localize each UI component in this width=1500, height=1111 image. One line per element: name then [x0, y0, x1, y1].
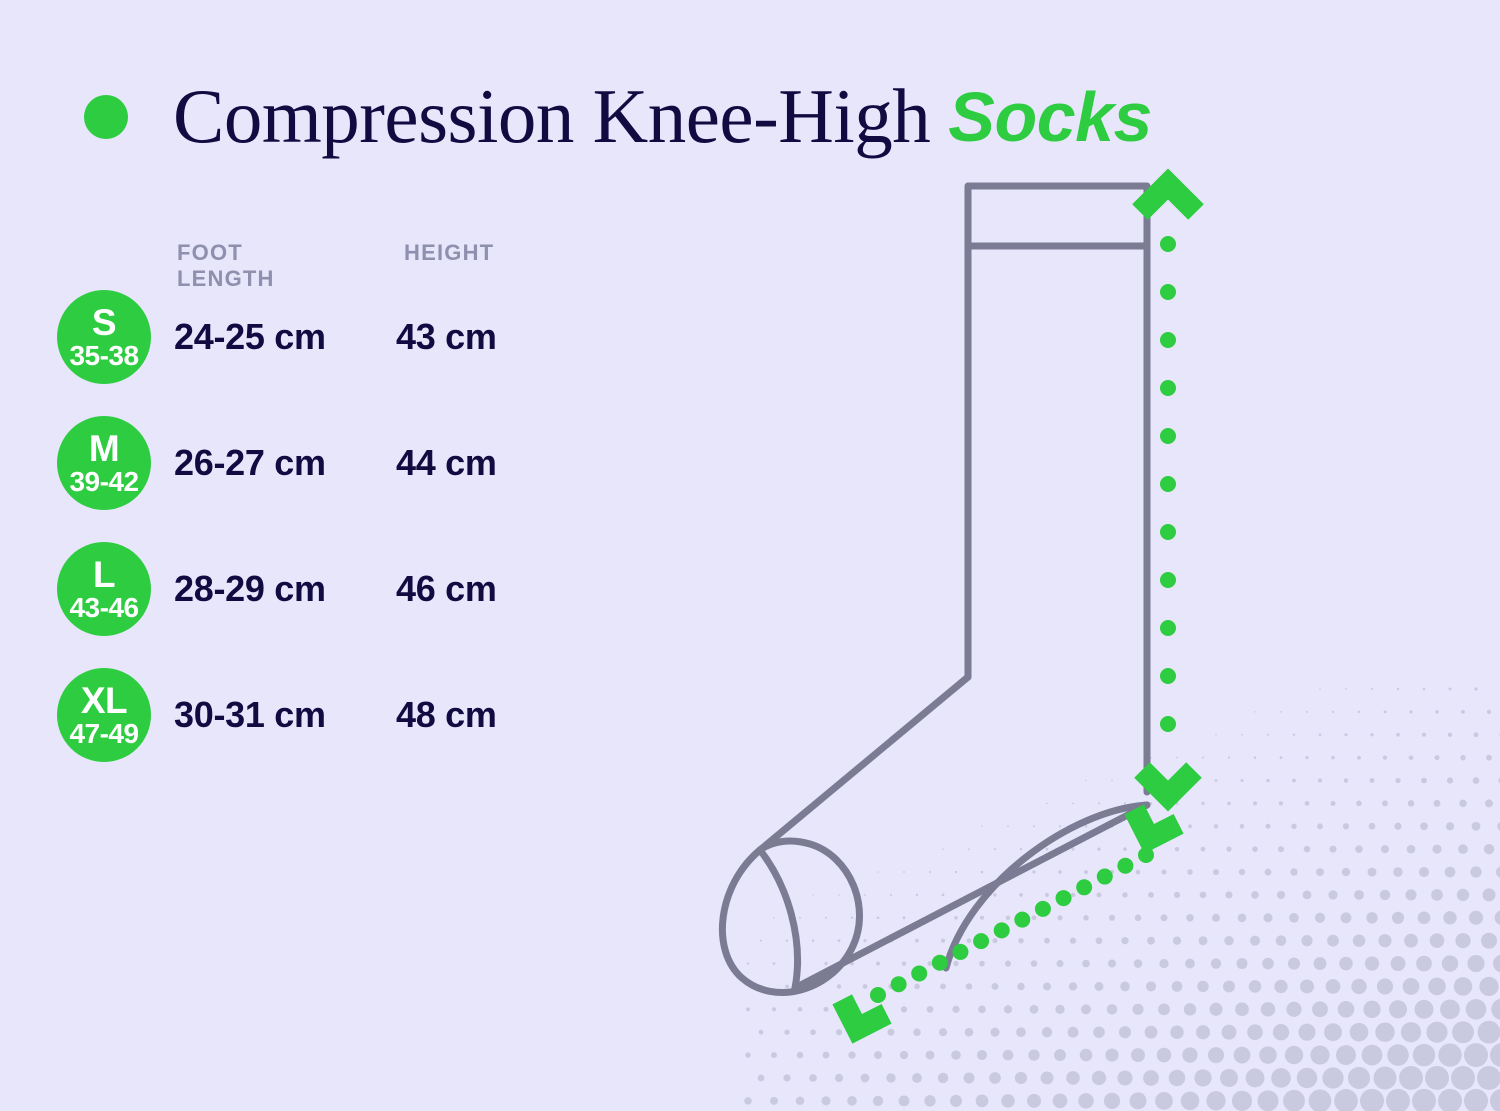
size-badge-l: L 43-46 — [57, 542, 151, 636]
size-badge-xl: XL 47-49 — [57, 668, 151, 762]
title-main-text: Compression Knee-High — [173, 78, 930, 155]
size-badge-eu-range: 43-46 — [69, 594, 138, 622]
cell-foot-length: 26-27 cm — [174, 442, 326, 484]
size-badge-letter: L — [93, 558, 115, 592]
cell-height: 43 cm — [396, 316, 497, 358]
cell-foot-length: 28-29 cm — [174, 568, 326, 610]
chevron-up-icon — [1140, 184, 1196, 212]
sock-cuff-outline — [968, 186, 1147, 246]
size-badge-eu-range: 39-42 — [69, 468, 138, 496]
column-header-foot-length: FOOT LENGTH — [177, 240, 275, 292]
size-badge-eu-range: 47-49 — [69, 720, 138, 748]
size-badge-eu-range: 35-38 — [69, 342, 138, 370]
size-badge-letter: S — [92, 306, 116, 340]
sock-instep-edge — [760, 677, 968, 850]
cell-foot-length: 30-31 cm — [174, 694, 326, 736]
size-badge-letter: XL — [81, 684, 127, 718]
page-title: Compression Knee-High Socks — [84, 78, 1152, 155]
size-badge-s: S 35-38 — [57, 290, 151, 384]
size-chart-page: Compression Knee-High Socks FOOT LENGTH … — [0, 0, 1500, 1111]
title-accent-text: Socks — [948, 82, 1152, 152]
sock-toe-seam — [760, 850, 798, 988]
cell-height: 44 cm — [396, 442, 497, 484]
cell-foot-length: 24-25 cm — [174, 316, 326, 358]
size-badge-letter: M — [89, 432, 119, 466]
column-header-height: HEIGHT — [404, 240, 494, 266]
cell-height: 46 cm — [396, 568, 497, 610]
chevron-down-icon — [1142, 770, 1194, 796]
size-badge-m: M 39-42 — [57, 416, 151, 510]
cell-height: 48 cm — [396, 694, 497, 736]
bullet-dot-icon — [84, 95, 128, 139]
knee-high-sock-diagram — [700, 150, 1300, 1070]
foot-length-measure-line — [832, 794, 1183, 1043]
